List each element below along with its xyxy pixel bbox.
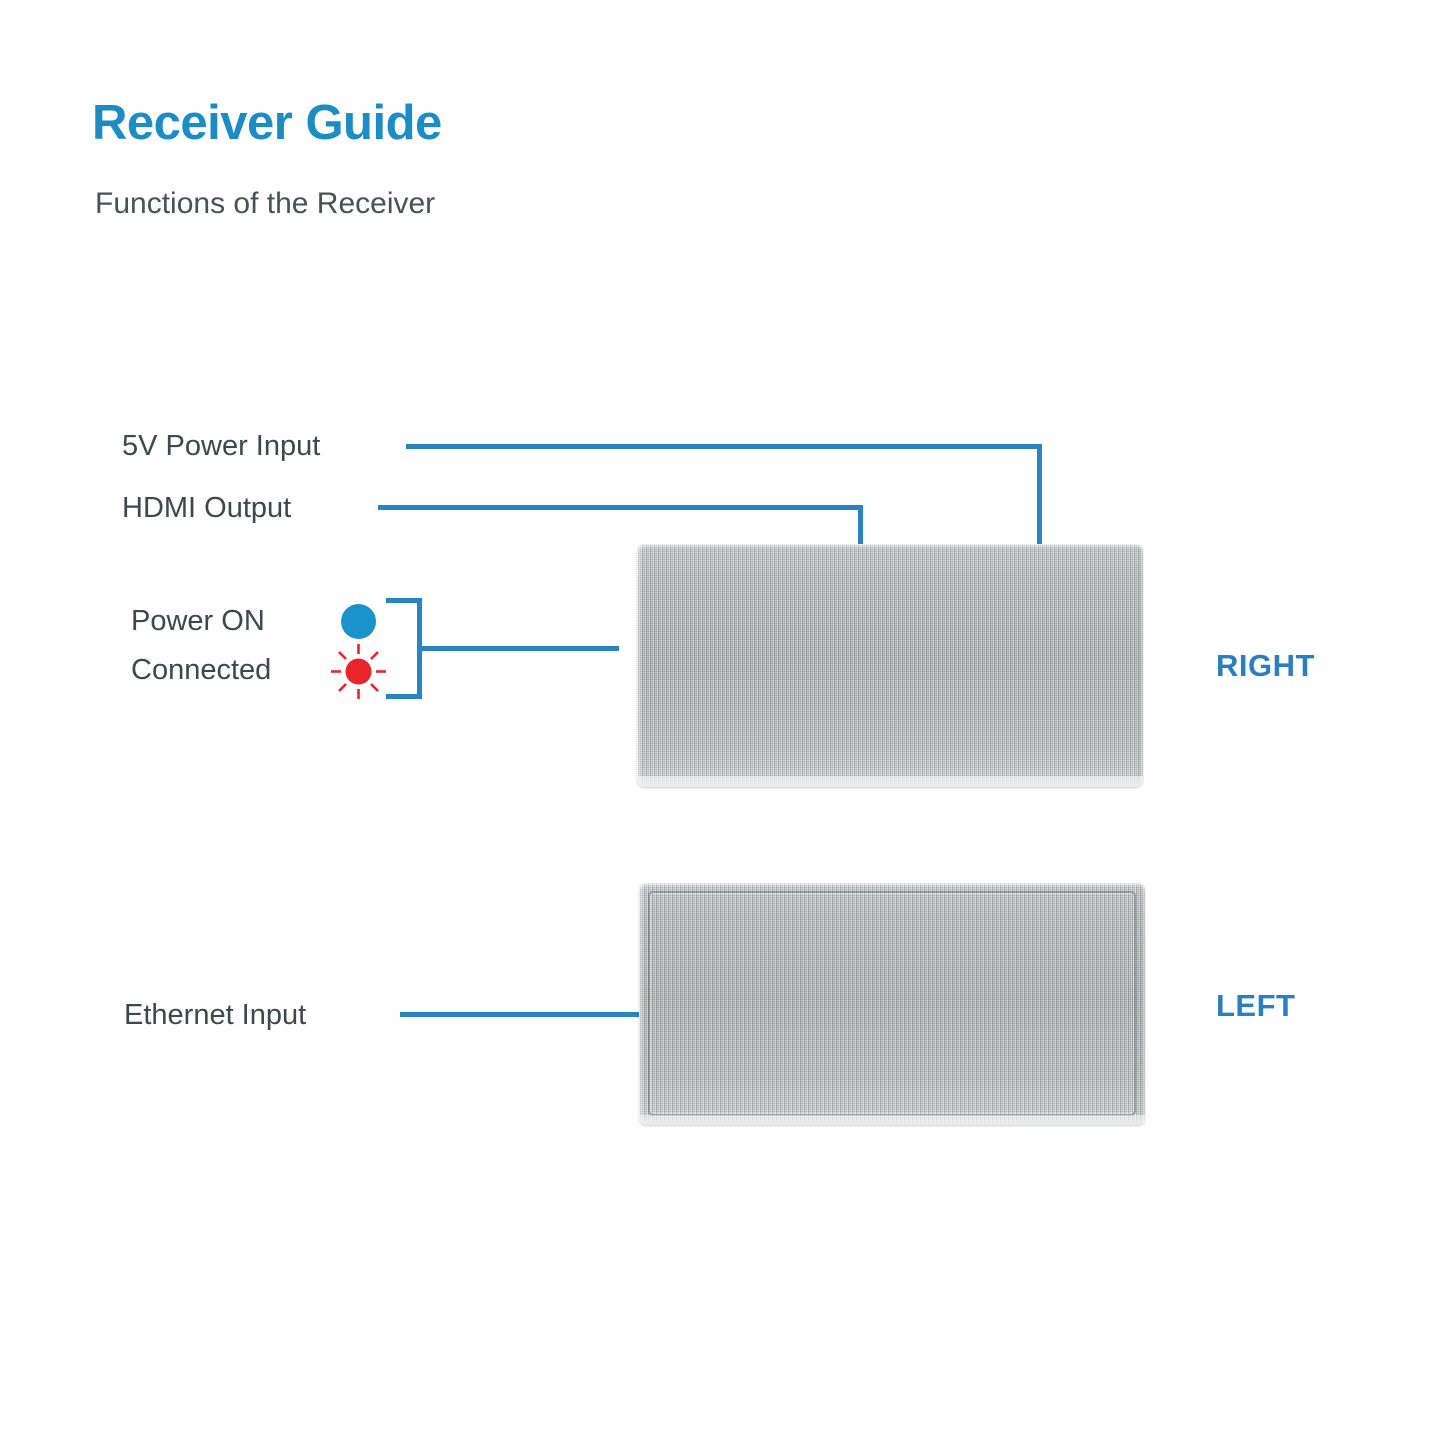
- side-label-right: RIGHT: [1216, 650, 1315, 681]
- leader-line-hdmi-output-horizontal: [378, 505, 863, 510]
- receiver-right-panel: Status Output DC/5V: [637, 544, 1143, 787]
- callout-label-ethernet-input: Ethernet Input: [124, 1001, 306, 1030]
- callout-label-power-on: Power ON: [131, 607, 265, 636]
- led-bracket-bottom: [386, 694, 422, 699]
- page-title: Receiver Guide: [92, 99, 442, 148]
- callout-label-power-input: 5V Power Input: [122, 432, 320, 461]
- callout-label-hdmi-output: HDMI Output: [122, 494, 291, 523]
- power-on-led-icon: [341, 604, 376, 639]
- connected-blinking-led-icon: [330, 643, 387, 700]
- side-label-left: LEFT: [1216, 990, 1296, 1021]
- callout-label-connected: Connected: [131, 656, 271, 685]
- receiver-left-panel: CAT5e/6: [639, 883, 1145, 1125]
- led-bracket-stem-line: [417, 646, 619, 651]
- page-subtitle: Functions of the Receiver: [95, 189, 435, 219]
- leader-line-power-input-horizontal: [406, 444, 1042, 449]
